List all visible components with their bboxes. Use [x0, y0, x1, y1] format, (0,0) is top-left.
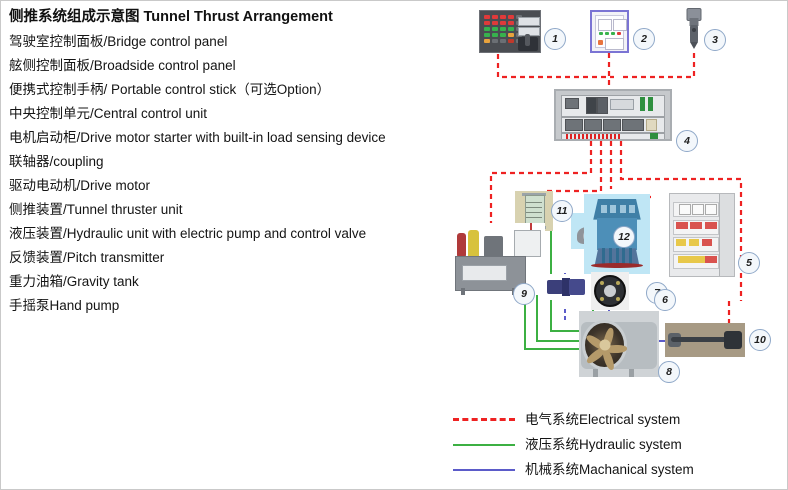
diagram-frame: 侧推系统组成示意图 Tunnel Thrust Arrangement 驾驶室控… — [0, 0, 788, 490]
callout-9[interactable]: 9 — [513, 283, 535, 305]
keypad — [484, 15, 522, 43]
stick-tip — [690, 42, 698, 49]
legend-label-mechanical: 机械系统Machanical system — [525, 462, 694, 478]
list-item-4: 中央控制单元/Central control unit — [9, 102, 459, 126]
motor-flange — [591, 263, 644, 269]
callout-5[interactable]: 5 — [738, 252, 760, 274]
transmitter-end-right — [724, 331, 742, 349]
tunnel-thruster-unit-image[interactable] — [579, 311, 659, 377]
central-control-unit-image[interactable] — [554, 89, 672, 141]
list-item-2: 舷侧控制面板/Broadside control panel — [9, 54, 459, 78]
mechanical-line-swatch — [453, 469, 515, 471]
bridge-control-panel-image[interactable] — [479, 10, 541, 53]
callout-8[interactable]: 8 — [658, 361, 680, 383]
callout-11[interactable]: 11 — [551, 200, 573, 222]
coupling-shaft-image[interactable] — [545, 274, 587, 300]
joystick-lever[interactable] — [525, 34, 530, 46]
list-item-7: 驱动电动机/Drive motor — [9, 174, 459, 198]
callout-2[interactable]: 2 — [633, 28, 655, 50]
legend-row-mechanical: 机械系统Machanical system — [453, 457, 783, 482]
electric-pump — [484, 236, 503, 258]
list-item-12: 手摇泵Hand pump — [9, 294, 459, 318]
propeller-hub — [599, 340, 610, 351]
hydraulic-unit-image[interactable] — [449, 223, 545, 295]
page-title: 侧推系统组成示意图 Tunnel Thrust Arrangement — [9, 7, 459, 28]
callout-1[interactable]: 1 — [544, 28, 566, 50]
electrical-line-swatch — [453, 418, 515, 421]
list-item-1: 驾驶室控制面板/Bridge control panel — [9, 30, 459, 54]
keypad-area[interactable] — [605, 38, 624, 50]
screen-left — [598, 19, 612, 31]
stick-button[interactable] — [692, 28, 696, 32]
cabinet-door[interactable] — [719, 194, 734, 276]
list-item-5: 电机启动柜/Drive motor starter with built-in … — [9, 126, 459, 150]
coupling-image[interactable] — [591, 272, 629, 310]
portable-control-stick-image[interactable] — [681, 8, 707, 53]
legend-row-electrical: 电气系统Electrical system — [453, 407, 783, 432]
legend-label-electrical: 电气系统Electrical system — [525, 412, 680, 428]
control-valve-box[interactable] — [514, 230, 541, 256]
schematic-diagram: 1 2 3 — [441, 1, 788, 401]
callout-3[interactable]: 3 — [704, 29, 726, 51]
legend-label-hydraulic: 液压系统Hydraulic system — [525, 437, 682, 453]
drive-motor-starter-image[interactable] — [669, 193, 735, 277]
tunnel-mouth — [582, 320, 627, 370]
filter-red — [457, 233, 466, 257]
filter-yellow — [468, 230, 479, 259]
tank-nameplate — [462, 265, 506, 281]
legend-row-hydraulic: 液压系统Hydraulic system — [453, 432, 783, 457]
callout-6[interactable]: 6 — [654, 289, 676, 311]
list-item-3: 便携式控制手柄/ Portable control stick（可选Option… — [9, 78, 459, 102]
display-upper — [518, 17, 540, 26]
callout-10[interactable]: 10 — [749, 329, 771, 351]
legend: 电气系统Electrical system 液压系统Hydraulic syst… — [453, 407, 783, 482]
screen-right — [613, 19, 627, 31]
list-item-8: 侧推装置/Tunnel thruster unit — [9, 198, 459, 222]
broadside-control-panel-image[interactable] — [590, 10, 629, 53]
callout-12[interactable]: 12 — [613, 226, 635, 248]
pitch-transmitter-image[interactable] — [665, 323, 745, 357]
list-item-10: 反馈装置/Pitch transmitter — [9, 246, 459, 270]
hydraulic-line-swatch — [453, 444, 515, 446]
component-list: 侧推系统组成示意图 Tunnel Thrust Arrangement 驾驶室控… — [9, 7, 459, 318]
callout-4[interactable]: 4 — [676, 130, 698, 152]
coupling-hub — [594, 275, 626, 307]
list-item-6: 联轴器/coupling — [9, 150, 459, 174]
list-item-11: 重力油箱/Gravity tank — [9, 270, 459, 294]
list-item-9: 液压装置/Hydraulic unit with electric pump a… — [9, 222, 459, 246]
